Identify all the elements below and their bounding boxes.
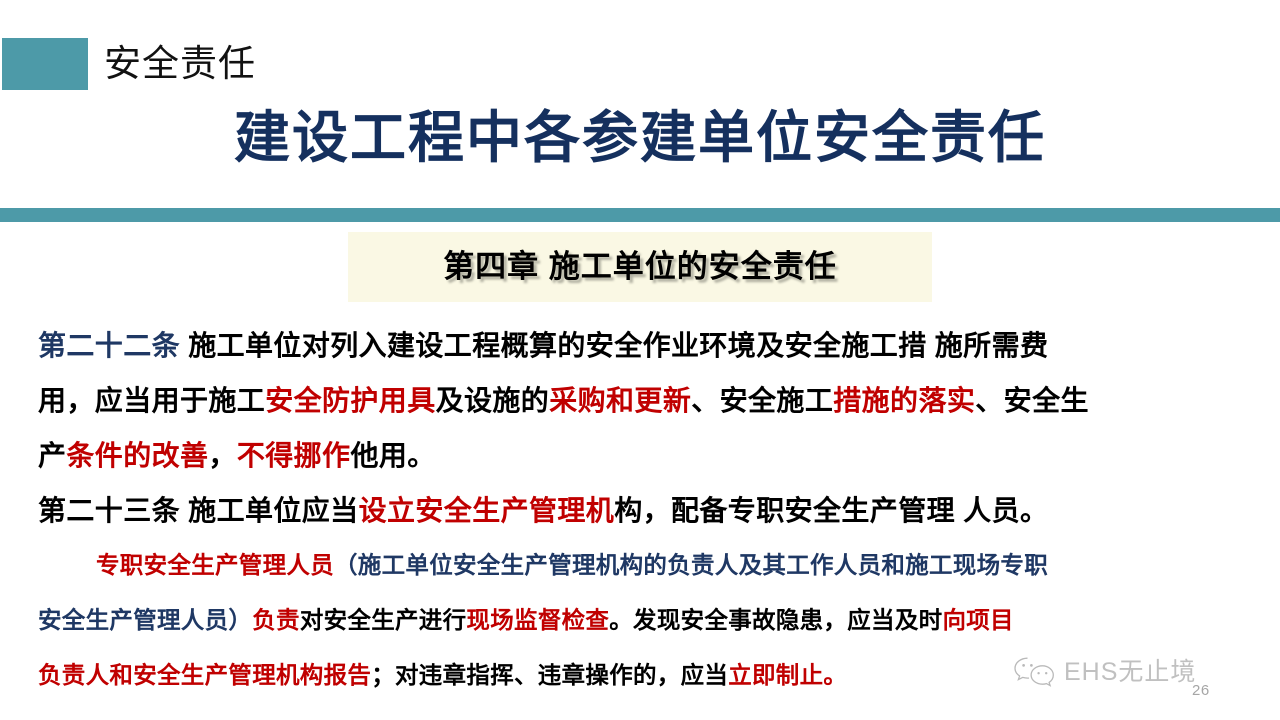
header-kicker: 安全责任 [104,36,256,92]
article-22-line-3-seg-4: 不得挪作 [237,440,351,471]
article-22-number: 第二十二条 [38,330,180,361]
article-23-sub-line-2-seg-1: 安全生产管理人员） [38,607,252,633]
header-divider [0,208,1280,222]
article-23-sub-line-2-seg-6: 向项目 [942,607,1013,633]
article-22-line-3-seg-3: ， [208,440,236,471]
article-23-sub-line-3-seg-3: 立即制止。 [728,662,847,688]
article-23-sub-line-1: 专职安全生产管理人员（施工单位安全生产管理机构的负责人及其工作人员和施工现场专职 [38,538,1248,593]
chapter-banner: 第四章 施工单位的安全责任 [348,232,932,302]
article-23-sub-line-2-seg-2: 负责 [252,607,300,633]
article-22-line-2-seg-1: 用，应当用于施工 [38,385,265,416]
article-23-line-1-seg-2: 设立安全生产管理机 [359,495,615,526]
slide-body: 第二十二条 施工单位对列入建设工程概算的安全作业环境及安全施工措 施所需费 用，… [38,318,1248,703]
article-22-line-3-seg-1: 产 [38,440,66,471]
wechat-icon [1012,655,1058,689]
page-number: 26 [1192,682,1210,699]
article-23-sub-line-1-seg-2: （施工单位安全生产管理机构的负责人及其工作人员和施工现场专职 [334,552,1048,578]
article-22-line-2: 用，应当用于施工安全防护用具及设施的采购和更新、安全施工措施的落实、安全生 [38,373,1248,428]
article-22-line-2-seg-4: 采购和更新 [549,385,691,416]
article-23-line-1-seg-3: 构，配备专职安全生产管理 人员。 [614,495,1048,526]
article-22-line-3-seg-5: 他用。 [350,440,435,471]
slide-header: 安全责任 建设工程中各参建单位安全责任 [0,0,1280,208]
article-23-sub-line-3-seg-1: 负责人和安全生产管理机构报告 [38,662,371,688]
article-22-line-1-text: 施工单位对列入建设工程概算的安全作业环境及安全施工措 施所需费 [180,330,1048,361]
article-22-line-2-seg-7: 、安全生 [975,385,1089,416]
article-23-sub-line-1-seg-1: 专职安全生产管理人员 [96,552,334,578]
watermark-text: EHS无止境 [1064,655,1196,689]
page-title: 建设工程中各参建单位安全责任 [0,100,1280,176]
article-22-line-2-seg-6: 措施的落实 [833,385,975,416]
article-23-sub-line-2: 安全生产管理人员）负责对安全生产进行现场监督检查。发现安全事故隐患，应当及时向项… [38,593,1248,648]
article-23-sub-line-2-seg-4: 现场监督检查 [466,607,609,633]
article-23-line-1: 第二十三条 施工单位应当设立安全生产管理机构，配备专职安全生产管理 人员。 [38,483,1248,538]
article-23-sub-line-3-seg-2: ；对违章指挥、违章操作的，应当 [371,662,728,688]
chapter-banner-title: 第四章 施工单位的安全责任 [348,232,932,302]
article-23-number: 第二十三条 施工单位应当 [38,495,359,526]
article-22-line-2-seg-3: 及设施的 [436,385,550,416]
article-22-line-1: 第二十二条 施工单位对列入建设工程概算的安全作业环境及安全施工措 施所需费 [38,318,1248,373]
header-accent-block [2,38,88,90]
article-22-line-3: 产条件的改善，不得挪作他用。 [38,428,1248,483]
article-23-sub-line-2-seg-5: 。发现安全事故隐患，应当及时 [609,607,942,633]
article-22-line-2-seg-2: 安全防护用具 [265,385,435,416]
article-23-sub-line-2-seg-3: 对安全生产进行 [300,607,467,633]
article-22-line-3-seg-2: 条件的改善 [66,440,208,471]
article-22-line-2-seg-5: 、安全施工 [691,385,833,416]
